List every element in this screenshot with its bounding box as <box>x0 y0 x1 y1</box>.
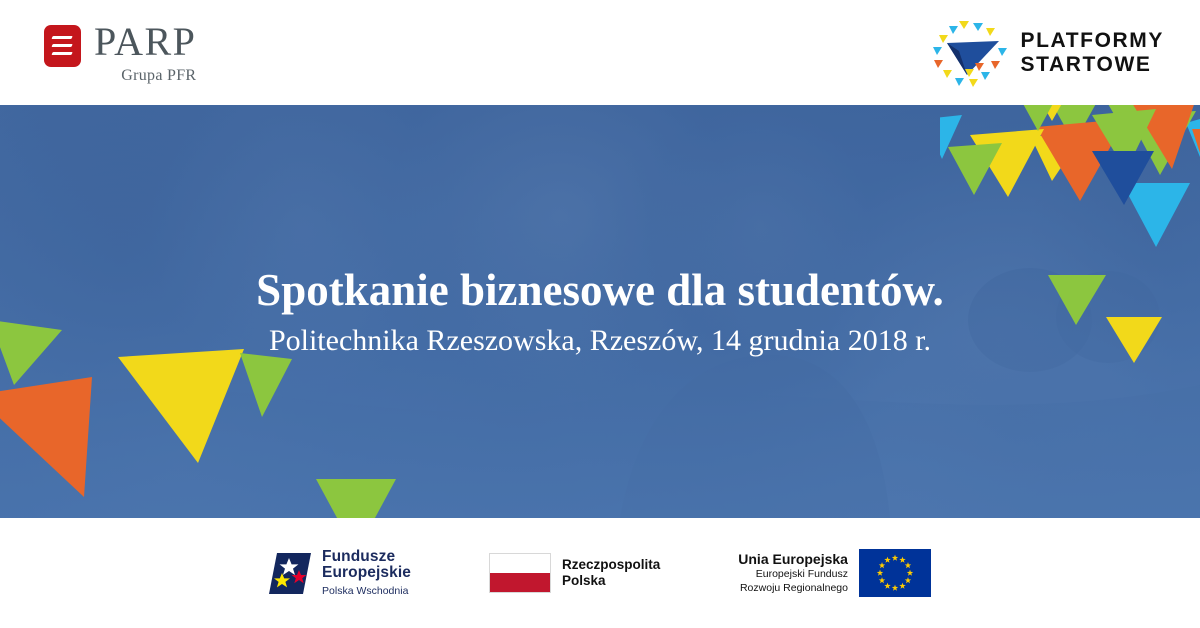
eu-flag-icon <box>859 549 931 597</box>
platformy-line1: PLATFORMY <box>1021 29 1165 53</box>
rzeczpospolita-polska-logo: Rzeczpospolita Polska <box>489 553 660 593</box>
platformy-startowe-logo[interactable]: PLATFORMY STARTOWE <box>929 17 1165 89</box>
event-banner: Spotkanie biznesowe dla studentów. Polit… <box>0 105 1200 518</box>
parp-wordmark: PARP <box>94 22 196 62</box>
poland-flag-icon <box>489 553 551 593</box>
header-bar: PARP Grupa PFR <box>0 0 1200 105</box>
fundusze-line1: Fundusze <box>322 549 411 566</box>
unia-line3: Rozwoju Regionalnego <box>738 582 848 596</box>
banner-text-block: Spotkanie biznesowe dla studentów. Polit… <box>0 105 1200 518</box>
unia-europejska-logo: Unia Europejska Europejski Fundusz Rozwo… <box>738 549 931 597</box>
parp-mark-icon <box>44 25 81 67</box>
page-title: Spotkanie biznesowe dla studentów. <box>256 263 944 317</box>
poster-page: PARP Grupa PFR <box>0 0 1200 628</box>
fundusze-line3: Polska Wschodnia <box>322 584 411 598</box>
footer-logo-bar: Fundusze Europejskie Polska Wschodnia Rz… <box>0 518 1200 628</box>
parp-logo[interactable]: PARP Grupa PFR <box>44 22 196 85</box>
unia-line2: Europejski Fundusz <box>738 568 848 582</box>
fundusze-europejskie-logo: Fundusze Europejskie Polska Wschodnia <box>269 549 411 598</box>
paper-plane-burst-icon <box>929 17 1011 89</box>
fundusze-europejskie-stars-icon <box>269 551 311 596</box>
parp-tagline: Grupa PFR <box>94 67 196 85</box>
platformy-line2: STARTOWE <box>1021 53 1165 77</box>
rzeczpospolita-line1: Rzeczpospolita <box>562 557 660 573</box>
rzeczpospolita-line2: Polska <box>562 573 660 589</box>
unia-line1: Unia Europejska <box>738 551 848 568</box>
fundusze-line2: Europejskie <box>322 565 411 582</box>
page-subtitle: Politechnika Rzeszowska, Rzeszów, 14 gru… <box>269 322 931 360</box>
